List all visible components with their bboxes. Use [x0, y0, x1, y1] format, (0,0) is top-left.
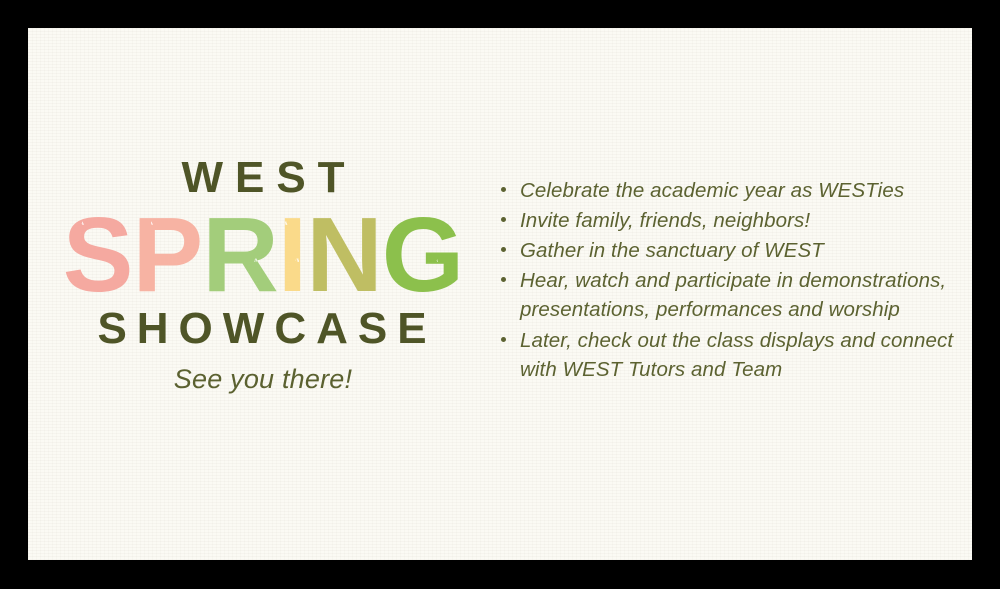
bullet-item: Gather in the sanctuary of WEST	[498, 236, 958, 265]
bullet-item: Invite family, friends, neighbors!	[498, 206, 958, 235]
bullet-dot-icon	[501, 337, 506, 342]
bullet-text: Later, check out the class displays and …	[520, 329, 953, 381]
bullet-dot-icon	[501, 217, 506, 222]
bullet-text: Gather in the sanctuary of WEST	[520, 239, 824, 262]
poster-canvas: WEST SPRING SHOWCASE See you there! Cele…	[28, 28, 972, 560]
poster-frame: WEST SPRING SHOWCASE See you there! Cele…	[0, 0, 1000, 589]
spring-letter-i: I	[278, 202, 306, 308]
title-block: WEST SPRING SHOWCASE See you there!	[28, 156, 498, 395]
spring-letter-g: G	[382, 202, 463, 308]
bullet-text: Invite family, friends, neighbors!	[520, 209, 810, 232]
bullet-text: Celebrate the academic year as WESTies	[520, 179, 904, 202]
bullet-dot-icon	[501, 187, 506, 192]
spring-letter-r: R	[202, 202, 278, 308]
title-line-spring: SPRING	[28, 202, 498, 308]
spring-letter-s: S	[63, 202, 133, 308]
title-tagline: See you there!	[28, 364, 498, 395]
bullet-text: Hear, watch and participate in demonstra…	[520, 269, 946, 321]
bullet-block: Celebrate the academic year as WESTiesIn…	[498, 176, 958, 385]
bullet-item: Hear, watch and participate in demonstra…	[498, 266, 958, 324]
spring-letter-n: N	[306, 202, 382, 308]
text-layer: WEST SPRING SHOWCASE See you there! Cele…	[28, 28, 972, 560]
spring-letter-p: P	[132, 202, 202, 308]
bullet-list: Celebrate the academic year as WESTiesIn…	[498, 176, 958, 384]
bullet-item: Celebrate the academic year as WESTies	[498, 176, 958, 205]
bullet-dot-icon	[501, 247, 506, 252]
bullet-item: Later, check out the class displays and …	[498, 326, 958, 384]
title-line-west: WEST	[40, 156, 498, 200]
bullet-dot-icon	[501, 277, 506, 282]
